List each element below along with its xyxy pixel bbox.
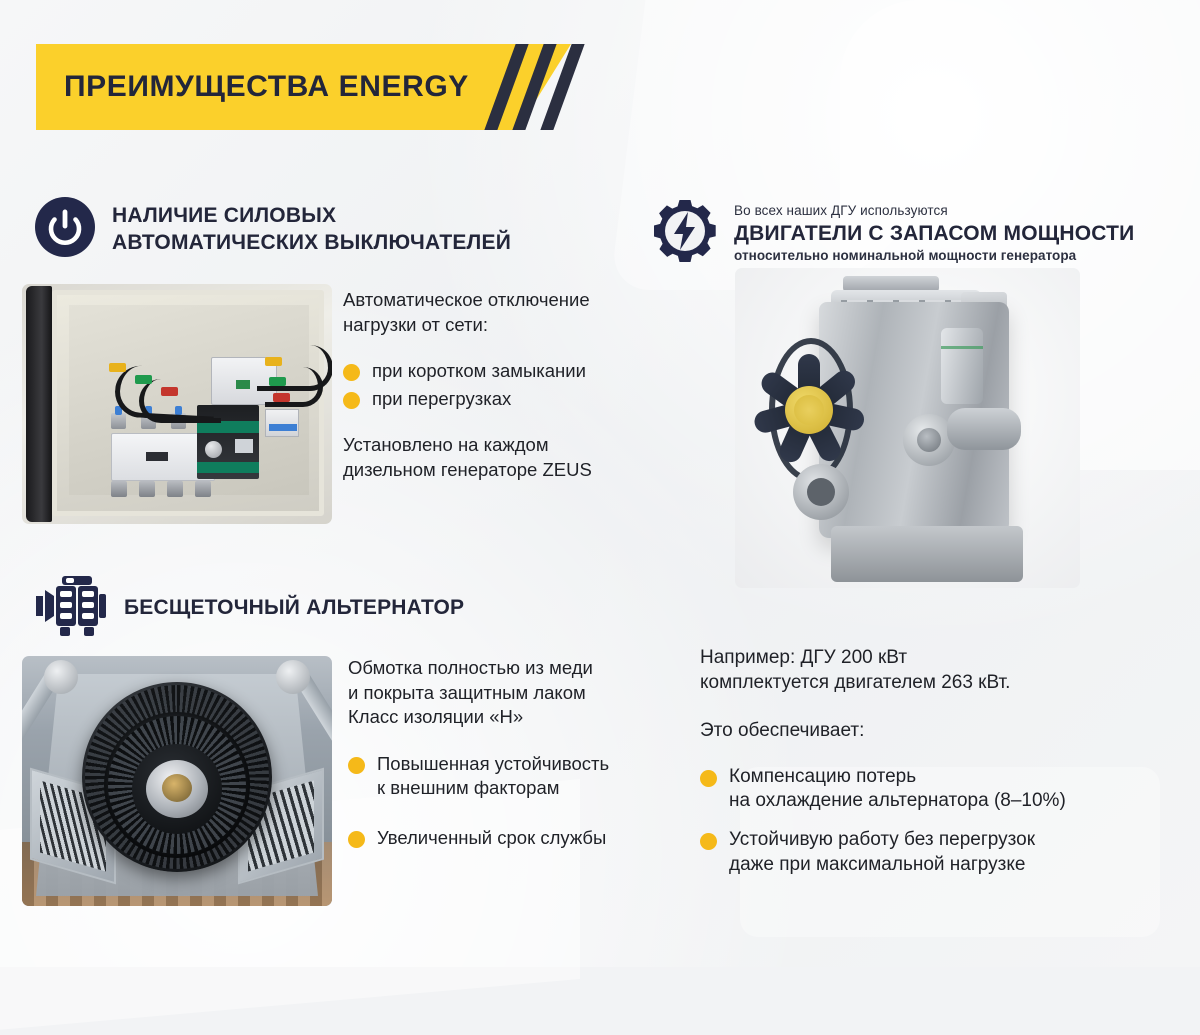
diesel-engine-photo bbox=[735, 268, 1080, 588]
bullet-dot-icon bbox=[348, 831, 365, 848]
section-header-engine: Во всех наших ДГУ используются ДВИГАТЕЛИ… bbox=[652, 198, 1134, 269]
alternator-intro-line2: и покрыта защитным лаком bbox=[348, 681, 678, 706]
bullet-label-line2: даже при максимальной нагрузке bbox=[729, 854, 1025, 875]
alternator-icon bbox=[34, 572, 108, 645]
list-item: Увеличенный срок службы bbox=[348, 826, 678, 850]
bullet-label: Увеличенный срок службы bbox=[377, 826, 606, 850]
engine-example-line1: Например: ДГУ 200 кВт bbox=[700, 645, 1190, 670]
breakers-intro-line1: Автоматическое отключение bbox=[343, 288, 673, 313]
alternator-text-block: Обмотка полностью из меди и покрыта защи… bbox=[348, 656, 678, 876]
list-item: Повышенная устойчивость к внешним фактор… bbox=[348, 752, 678, 800]
section-title-breakers-line1: НАЛИЧИЕ СИЛОВЫХ bbox=[112, 203, 511, 230]
breakers-footer-line1: Установлено на каждом bbox=[343, 433, 673, 458]
header-banner: ПРЕИМУЩЕСТВА ENERGY bbox=[36, 44, 571, 130]
bullet-dot-icon bbox=[700, 770, 717, 787]
list-item: при перегрузках bbox=[343, 387, 673, 411]
gear-lightning-icon bbox=[652, 198, 718, 269]
breakers-bullet-list: при коротком замыкании при перегрузках bbox=[343, 359, 673, 411]
section-title-alternator: БЕСЩЕТОЧНЫЙ АЛЬТЕРНАТОР bbox=[124, 595, 464, 622]
alternator-intro-line3: Класс изоляции «Н» bbox=[348, 705, 678, 730]
bullet-label-line1: Компенсацию потерь bbox=[729, 766, 916, 787]
list-item: Компенсацию потерь на охлаждение альтерн… bbox=[700, 765, 1190, 814]
bullet-label-line2: на охлаждение альтернатора (8–10%) bbox=[729, 790, 1066, 811]
page-title: ПРЕИМУЩЕСТВА ENERGY bbox=[64, 70, 469, 104]
breakers-footer-line2: дизельном генераторе ZEUS bbox=[343, 458, 673, 483]
engine-eyebrow: Во всех наших ДГУ используются bbox=[734, 203, 1134, 219]
bullet-dot-icon bbox=[343, 364, 360, 381]
bullet-label: при перегрузках bbox=[372, 387, 511, 411]
breakers-text-block: Автоматическое отключение нагрузки от се… bbox=[343, 288, 673, 482]
alternator-intro-line1: Обмотка полностью из меди bbox=[348, 656, 678, 681]
engine-example-line2: комплектуется двигателем 263 кВт. bbox=[700, 670, 1190, 695]
bullet-label-line1: Устойчивую работу без перегрузок bbox=[729, 829, 1035, 850]
bullet-dot-icon bbox=[348, 757, 365, 774]
list-item: Устойчивую работу без перегрузок даже пр… bbox=[700, 828, 1190, 877]
bullet-dot-icon bbox=[343, 392, 360, 409]
power-button-icon bbox=[34, 196, 96, 263]
alternator-photo bbox=[22, 656, 332, 906]
bullet-dot-icon bbox=[700, 833, 717, 850]
section-title-engine: ДВИГАТЕЛИ С ЗАПАСОМ МОЩНОСТИ bbox=[734, 222, 1134, 246]
control-cabinet-photo bbox=[22, 284, 332, 524]
section-header-breakers: НАЛИЧИЕ СИЛОВЫХ АВТОМАТИЧЕСКИХ ВЫКЛЮЧАТЕ… bbox=[34, 196, 511, 263]
bullet-label-line2: к внешним факторам bbox=[377, 777, 559, 798]
section-header-alternator: БЕСЩЕТОЧНЫЙ АЛЬТЕРНАТОР bbox=[34, 572, 464, 645]
bullet-label-line1: Повышенная устойчивость bbox=[377, 753, 609, 774]
breakers-intro-line2: нагрузки от сети: bbox=[343, 313, 673, 338]
engine-subtitle: относительно номинальной мощности генера… bbox=[734, 248, 1134, 264]
bullet-label: при коротком замыкании bbox=[372, 359, 586, 383]
engine-text-block: Например: ДГУ 200 кВт комплектуется двиг… bbox=[700, 645, 1190, 892]
alternator-bullet-list: Повышенная устойчивость к внешним фактор… bbox=[348, 752, 678, 850]
engine-provides-label: Это обеспечивает: bbox=[700, 718, 1190, 743]
list-item: при коротком замыкании bbox=[343, 359, 673, 383]
engine-bullet-list: Компенсацию потерь на охлаждение альтерн… bbox=[700, 765, 1190, 878]
section-title-breakers-line2: АВТОМАТИЧЕСКИХ ВЫКЛЮЧАТЕЛЕЙ bbox=[112, 230, 511, 257]
